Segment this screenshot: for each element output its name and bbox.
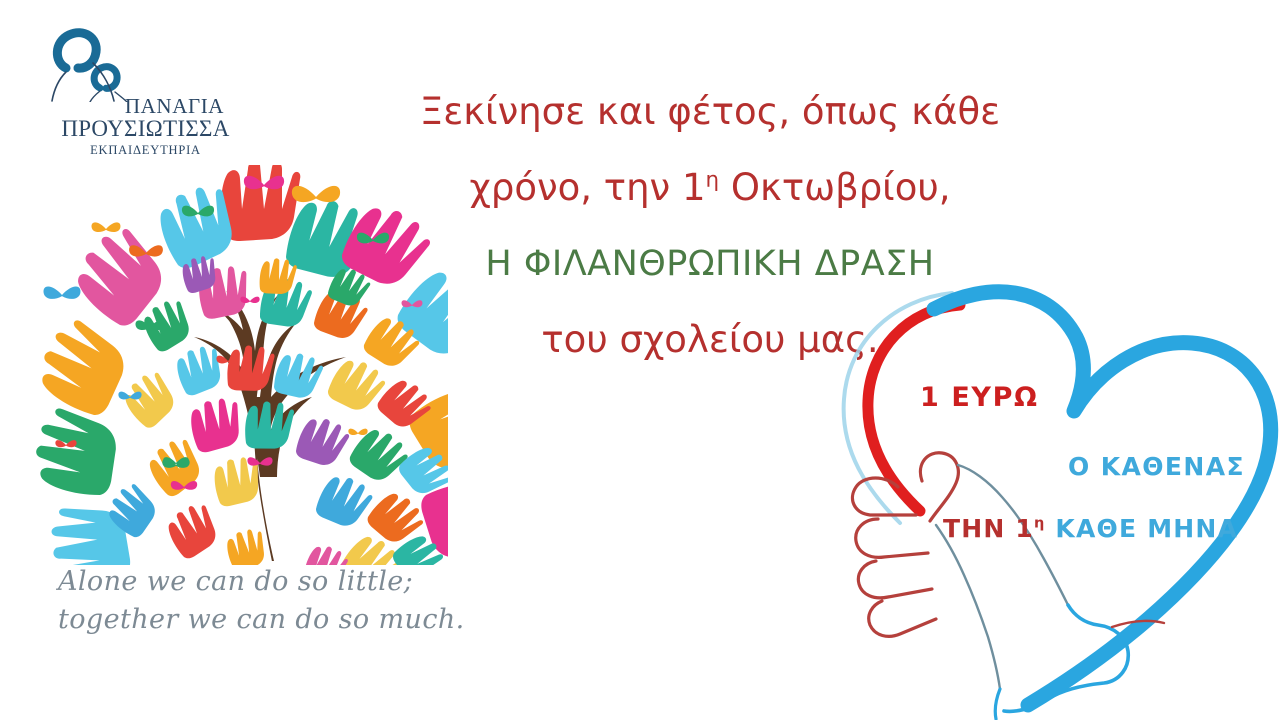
logo-wordmark: ΠΑΝΑΓΙΑ ΠΡΟΥΣΙΩΤΙΣΣΑ ΕΚΠΑΙΔΕΥΤΗΡΙΑ <box>38 96 253 157</box>
heart-label-one-euro: 1 ΕΥΡΩ <box>920 382 1039 413</box>
heart-blue-stroke <box>934 292 1271 705</box>
logo-line-3: ΕΚΠΑΙΔΕΥΤΗΡΙΑ <box>38 144 253 157</box>
school-logo: ΠΑΝΑΓΙΑ ΠΡΟΥΣΙΩΤΙΣΣΑ ΕΚΠΑΙΔΕΥΤΗΡΙΑ <box>38 22 253 162</box>
heart-label-month-red: ΤΗΝ 1 <box>943 514 1034 543</box>
headline-ordinal-suffix: η <box>706 168 720 193</box>
quote-line-2: together we can do so much. <box>58 601 498 639</box>
heart-label-every-month: ΤΗΝ 1η ΚΑΘΕ ΜΗΝΑ <box>943 514 1238 543</box>
heart-label-month-ordinal: η <box>1034 516 1046 532</box>
logo-line-1: ΠΑΝΑΓΙΑ <box>38 96 253 118</box>
poster-canvas: ΠΑΝΑΓΙΑ ΠΡΟΥΣΙΩΤΙΣΣΑ ΕΚΠΑΙΔΕΥΤΗΡΙΑ Ξεκίν… <box>0 0 1280 720</box>
logo-line-2: ΠΡΟΥΣΙΩΤΙΣΣΑ <box>38 117 253 141</box>
heart-label-each-person: Ο ΚΑΘΕΝΑΣ <box>1068 452 1245 481</box>
heart-with-hand-illustration <box>812 275 1280 720</box>
madonna-and-child-icon <box>48 22 153 102</box>
hands-tree-illustration <box>28 165 448 565</box>
inspirational-quote: Alone we can do so little; together we c… <box>58 563 498 639</box>
headline-line-2-b: Οκτωβρίου, <box>719 166 950 209</box>
heart-label-month-blue: ΚΑΘΕ ΜΗΝΑ <box>1046 514 1239 543</box>
headline-line-2-a: χρόνο, την 1 <box>469 166 705 209</box>
headline-line-1: Ξεκίνησε και φέτος, όπως κάθε <box>330 74 1090 150</box>
quote-line-1: Alone we can do so little; <box>58 563 498 601</box>
